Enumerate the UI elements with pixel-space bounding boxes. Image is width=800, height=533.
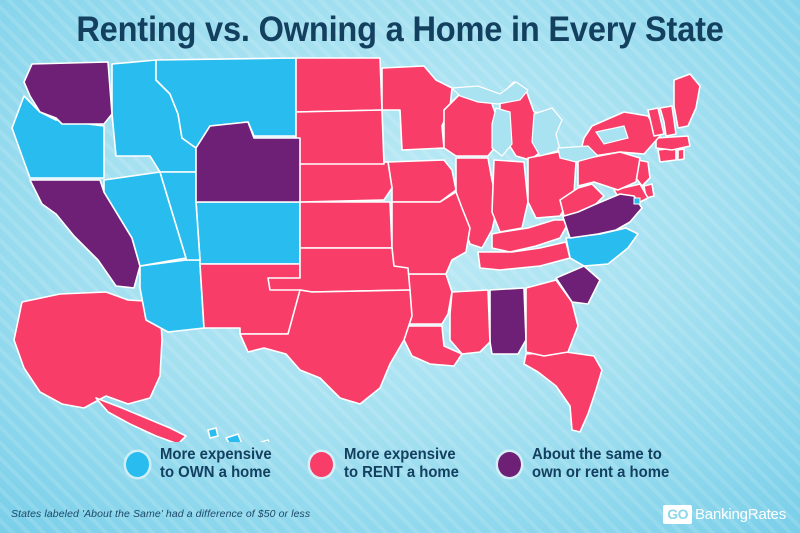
legend-label-own: More expensive to OWN a home [160,446,272,482]
state-me[interactable]: Maine [674,74,700,128]
brand-mark-icon: GO [663,505,692,524]
state-hi4[interactable] [256,440,272,442]
state-ak[interactable]: Alaska [14,292,162,408]
brand-logo[interactable]: GO BankingRates [663,505,786,524]
state-dc[interactable] [634,198,640,204]
legend-swatch-same-icon [498,452,521,477]
us-choropleth-map: AlabamaAlaskaArizonaArkansasCaliforniaCo… [0,52,800,442]
footnote-text: States labeled 'About the Same' had a di… [11,508,310,520]
legend-item-same[interactable]: About the same to own or rent a home [498,446,675,482]
infographic-canvas: Renting vs. Owning a Home in Every State… [0,0,800,533]
water-lake-huron-erie [532,108,562,156]
legend-label-same: About the same to own or rent a home [532,446,669,482]
states-layer: AlabamaAlaskaArizonaArkansasCaliforniaCo… [12,58,700,432]
brand-name-text: BankingRates [695,507,786,523]
state-ma[interactable]: Massachusetts [656,136,690,150]
state-mo[interactable]: Missouri [392,192,470,274]
state-fl[interactable]: Florida [524,352,602,432]
state-mn[interactable]: Minnesota [382,66,452,150]
state-hi1[interactable] [208,428,218,438]
legend-swatch-own-icon [126,452,149,477]
state-ks[interactable]: Kansas [300,202,392,248]
state-nm[interactable]: New Mexico [200,264,300,334]
state-co[interactable]: Colorado [196,202,300,264]
state-az[interactable]: Arizona [140,260,204,332]
page-title-text: Renting vs. Owning a Home in Every State [76,8,723,52]
state-ak-tail[interactable] [96,398,186,442]
legend-swatch-rent-icon [310,452,333,477]
state-nd[interactable]: North Dakota [296,58,382,112]
state-al[interactable]: Alabama [490,288,526,354]
legend-item-own[interactable]: More expensive to OWN a home [126,446,276,482]
state-ri[interactable]: Rhode Island [678,149,684,160]
state-sd[interactable]: South Dakota [296,110,384,164]
page-title: Renting vs. Owning a Home in Every State [0,8,800,52]
map-legend: More expensive to OWN a homeMore expensi… [0,446,800,482]
legend-item-rent[interactable]: More expensive to RENT a home [310,446,464,482]
legend-label-rent: More expensive to RENT a home [344,446,459,482]
state-ne[interactable]: Nebraska [296,162,392,202]
state-hi2[interactable] [226,434,242,442]
state-in[interactable]: Indiana [492,160,528,232]
water-lake-michigan [492,108,512,156]
map-svg: AlabamaAlaskaArizonaArkansasCaliforniaCo… [0,52,800,442]
state-ms[interactable]: Mississippi [450,290,490,354]
state-ia[interactable]: Iowa [388,160,456,202]
